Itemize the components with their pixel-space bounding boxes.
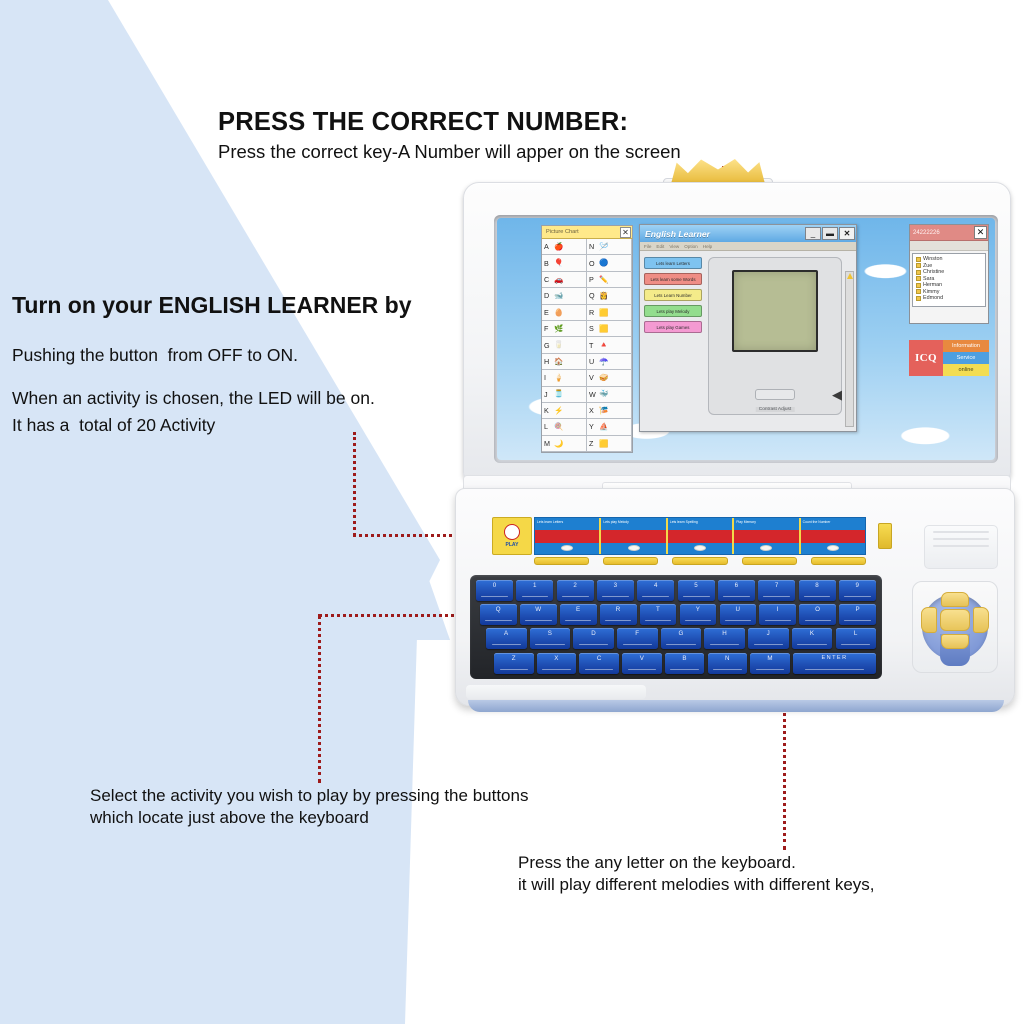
flower-icon: 🌿	[554, 325, 563, 333]
activity-selector-strip: PLAY Lets learn Letters Lets play Melody	[492, 517, 892, 555]
key-label: R	[616, 606, 621, 613]
jar-icon: 🫙	[554, 390, 563, 398]
triangle-icon: 🔺	[599, 341, 608, 349]
key-4[interactable]: 4	[637, 580, 674, 601]
chart-letter: T	[589, 341, 598, 350]
activity-led	[694, 545, 706, 551]
key-label: 1	[533, 582, 537, 589]
key-c[interactable]: C	[579, 653, 619, 674]
contact-name: Kimmy	[923, 289, 939, 295]
key-label: 8	[815, 582, 819, 589]
key-label: B	[682, 655, 686, 662]
chart-letter: C	[544, 275, 553, 284]
activity-top-label: Lets learn Letters	[537, 520, 597, 524]
key-label: Q	[496, 606, 501, 613]
key-label: 0	[493, 582, 497, 589]
kite-icon: ⚡	[554, 407, 563, 415]
chart-row: F🌿	[542, 321, 587, 337]
chart-letter: L	[544, 422, 553, 431]
key-label: F	[635, 630, 639, 637]
maximize-icon[interactable]: ▬	[822, 227, 838, 240]
key-7[interactable]: 7	[758, 580, 795, 601]
activity-band	[668, 530, 732, 543]
close-icon[interactable]: ✕	[839, 227, 855, 240]
palm-rest	[466, 685, 646, 699]
activity-button-list: Lets learn Letters Lets learn some Words…	[644, 257, 702, 337]
needle-icon: 🪡	[599, 243, 608, 251]
activity-top-label: Count the Number	[803, 520, 863, 524]
button-learn-letters[interactable]: Lets learn Letters	[644, 257, 702, 269]
key-label: I	[777, 606, 779, 613]
key-u[interactable]: U	[720, 604, 757, 625]
key-label: Z	[512, 655, 516, 662]
contact-name: Christine	[923, 269, 944, 275]
key-0[interactable]: 0	[476, 580, 513, 601]
screen-bezel: Picture Chart ✕ A🍎 B🎈 C🚗 D🐋 E🥚 F🌿	[494, 215, 998, 463]
list-item[interactable]: Edmond	[916, 295, 982, 301]
button-learn-words[interactable]: Lets learn some Words	[644, 273, 702, 285]
icq-button-column: Information Service online	[943, 340, 989, 376]
chart-letter: K	[544, 406, 553, 415]
key-f[interactable]: F	[617, 628, 658, 649]
menu-item-file[interactable]: File	[644, 244, 651, 249]
key-label: Y	[696, 606, 700, 613]
key-label: 5	[694, 582, 698, 589]
contacts-titlebar: 24222226 ✕	[910, 225, 988, 241]
key-label: A	[504, 630, 508, 637]
leader-turn-on-vertical	[353, 432, 356, 536]
turn-on-line-3: It has a total of 20 Activity	[12, 414, 215, 436]
key-h[interactable]: H	[704, 628, 745, 649]
chart-letter: H	[544, 357, 553, 366]
key-label: U	[736, 606, 741, 613]
key-a[interactable]: A	[486, 628, 527, 649]
key-i[interactable]: I	[759, 604, 796, 625]
keyboard-row-asdf: A S D F G H J K L	[476, 628, 876, 649]
key-label: K	[810, 630, 814, 637]
mouse-cursor-icon: ◀	[832, 388, 842, 401]
vent-slot	[933, 538, 989, 540]
house-icon: 🏠	[554, 358, 563, 366]
chart-letter: X	[589, 406, 598, 415]
activity-top-label: Lets play Melody	[603, 520, 663, 524]
balloon-icon: 🎈	[554, 259, 563, 267]
activity-led	[827, 545, 839, 551]
activity-button[interactable]	[603, 557, 658, 565]
contact-icon	[916, 276, 921, 281]
contact-icon	[916, 296, 921, 301]
chart-row: K⚡	[542, 403, 587, 419]
xylophone-icon: 🎏	[599, 407, 608, 415]
infographic-canvas: PRESS THE CORRECT NUMBER: Press the corr…	[0, 0, 1024, 1024]
activity-band	[801, 530, 865, 543]
list-item[interactable]: Winston	[916, 256, 982, 262]
chart-letter: F	[544, 324, 553, 333]
english-learner-body: Lets learn Letters Lets learn some Words…	[640, 251, 856, 431]
chart-row: W🐳	[587, 387, 632, 403]
key-label: P	[855, 606, 859, 613]
chart-row: U☂️	[587, 354, 632, 370]
key-8[interactable]: 8	[799, 580, 836, 601]
key-5[interactable]: 5	[678, 580, 715, 601]
chart-row: O🔵	[587, 255, 632, 271]
press-letter-text: Press the any letter on the keyboard. it…	[518, 852, 875, 896]
activity-button[interactable]	[811, 557, 866, 565]
laptop-base: PLAY Lets learn Letters Lets play Melody	[455, 488, 1015, 706]
chart-row: R🟨	[587, 305, 632, 321]
minimize-icon[interactable]: _	[805, 227, 821, 240]
key-label: O	[815, 606, 820, 613]
keyboard-row-qwerty: Q W E R T Y U I O P	[476, 604, 876, 625]
key-label: T	[656, 606, 660, 613]
key-g[interactable]: G	[661, 628, 702, 649]
contacts-toolbar	[910, 241, 988, 251]
activity-band	[734, 530, 798, 543]
contact-icon	[916, 257, 921, 262]
english-learner-window[interactable]: English Learner _ ▬ ✕ File Edit View Opt…	[639, 224, 857, 432]
activity-band	[535, 530, 599, 543]
yacht-icon: ⛵	[599, 423, 608, 431]
lollipop-icon: 🍭	[554, 423, 563, 431]
base-front-edge	[468, 700, 1004, 712]
whale-icon: 🐳	[599, 390, 608, 398]
contacts-user-id: 24222226	[913, 230, 974, 236]
key-label: J	[767, 630, 770, 637]
list-item[interactable]: Kimmy	[916, 289, 982, 295]
activity-led	[561, 545, 573, 551]
chart-row: H🏠	[542, 354, 587, 370]
queen-icon: 👸	[599, 292, 608, 300]
dpad-left-button[interactable]	[921, 607, 937, 633]
key-w[interactable]: W	[520, 604, 557, 625]
zipper-icon: 🟨	[599, 440, 608, 448]
icq-information-button[interactable]: Information	[943, 340, 989, 352]
activity-led	[760, 545, 772, 551]
activity-button[interactable]	[672, 557, 727, 565]
press-letter-line-2: it will play different melodies with dif…	[518, 875, 875, 894]
key-v[interactable]: V	[622, 653, 662, 674]
dolphin-icon: 🐋	[554, 292, 563, 300]
chart-letter: B	[544, 259, 553, 268]
key-9[interactable]: 9	[839, 580, 876, 601]
activity-button[interactable]	[742, 557, 797, 565]
picture-chart-right-column: N🪡 O🔵 P✏️ Q👸 R🟨 S🟨 T🔺 U☂️ V🥪 W🐳	[587, 239, 632, 452]
keyboard-row-numbers: 0 1 2 3 4 5 6 7 8 9	[476, 580, 876, 601]
english-learner-title: English Learner	[645, 229, 804, 239]
violin-icon: 🥪	[599, 374, 608, 382]
picture-chart-title: Picture Chart	[546, 229, 579, 235]
power-switch[interactable]: PLAY	[492, 517, 532, 555]
dpad-down-button[interactable]	[941, 634, 969, 649]
activity-top-label: Lets learn Spelling	[670, 520, 730, 524]
dpad-center-button[interactable]	[940, 609, 970, 631]
volume-knob[interactable]	[878, 523, 892, 549]
power-switch-indicator	[504, 524, 520, 540]
icq-widget[interactable]: ICQ Information Service online	[909, 340, 989, 376]
key-label: L	[854, 630, 858, 637]
list-item[interactable]: Christine	[916, 269, 982, 275]
key-t[interactable]: T	[640, 604, 677, 625]
chart-row: Y⛵	[587, 419, 632, 435]
chart-letter: D	[544, 291, 553, 300]
key-label: 7	[775, 582, 779, 589]
select-activity-line-2: which locate just above the keyboard	[90, 808, 369, 827]
chart-row: T🔺	[587, 337, 632, 353]
turn-on-line-1: Pushing the button from OFF to ON.	[12, 344, 298, 366]
contact-icon	[916, 263, 921, 268]
picture-chart-left-column: A🍎 B🎈 C🚗 D🐋 E🥚 F🌿 G🥛 H🏠 I🍦 J🫙	[542, 239, 587, 452]
icq-online-button[interactable]: online	[943, 364, 989, 376]
picture-chart-grid: A🍎 B🎈 C🚗 D🐋 E🥚 F🌿 G🥛 H🏠 I🍦 J🫙	[542, 239, 632, 452]
square-icon: 🟨	[599, 325, 608, 333]
chart-letter: Q	[589, 291, 598, 300]
chart-row: Z🟨	[587, 436, 632, 452]
icecream-icon: 🍦	[554, 374, 563, 382]
press-letter-line-1: Press the any letter on the keyboard.	[518, 853, 796, 872]
chart-letter: U	[589, 357, 598, 366]
chevron-up-icon[interactable]	[847, 273, 853, 279]
activity-button[interactable]	[534, 557, 589, 565]
key-label: 2	[573, 582, 577, 589]
close-icon[interactable]: ✕	[620, 227, 631, 238]
button-play-games[interactable]: Lets play Games	[644, 321, 702, 333]
chart-letter: G	[544, 341, 553, 350]
contact-icon	[916, 289, 921, 294]
vent-slot	[933, 545, 989, 547]
activity-panel-row: Lets learn Letters Lets play Melody Lets…	[534, 517, 866, 555]
key-label: H	[722, 630, 727, 637]
key-s[interactable]: S	[530, 628, 571, 649]
list-item[interactable]: Sara	[916, 276, 982, 282]
key-label: 3	[614, 582, 618, 589]
glove-icon: 🥛	[554, 341, 563, 349]
key-6[interactable]: 6	[718, 580, 755, 601]
desktop-wallpaper: Picture Chart ✕ A🍎 B🎈 C🚗 D🐋 E🥚 F🌿	[497, 218, 995, 460]
chart-row: P✏️	[587, 272, 632, 288]
key-n[interactable]: N	[708, 653, 748, 674]
list-item[interactable]: Herman	[916, 282, 982, 288]
key-label: C	[597, 655, 602, 662]
key-b[interactable]: B	[665, 653, 705, 674]
activity-button-row	[534, 557, 866, 565]
dpad-housing	[912, 581, 998, 673]
orange-icon: 🔵	[599, 259, 608, 267]
contact-name: Edmond	[923, 295, 943, 301]
key-d[interactable]: D	[573, 628, 614, 649]
contact-name: Sara	[923, 276, 934, 282]
key-label: X	[554, 655, 558, 662]
chart-row: J🫙	[542, 387, 587, 403]
key-q[interactable]: Q	[480, 604, 517, 625]
contacts-list: Winston Zue Christine Sara Herman Kimmy …	[912, 253, 986, 307]
contact-icon	[916, 270, 921, 275]
menu-item-edit[interactable]: Edit	[656, 244, 664, 249]
power-label: PLAY	[506, 542, 519, 548]
key-o[interactable]: O	[799, 604, 836, 625]
icq-service-button[interactable]: Service	[943, 352, 989, 364]
chart-row: V🥪	[587, 370, 632, 386]
select-activity-line-1: Select the activity you wish to play by …	[90, 786, 528, 805]
key-label: ENTER	[822, 655, 848, 661]
chart-row: C🚗	[542, 272, 587, 288]
contacts-footer	[910, 309, 988, 323]
moon-icon: 🌙	[554, 440, 563, 448]
key-label: 9	[856, 582, 860, 589]
menu-item-option[interactable]: Option	[684, 244, 698, 249]
contrast-adjust-label: Contrast Adjust	[756, 407, 795, 412]
eggplant-icon: 🥚	[554, 309, 563, 317]
chart-letter: P	[589, 275, 598, 284]
ruler-icon: 🟨	[599, 309, 608, 317]
chart-letter: J	[544, 390, 553, 399]
apple-icon: 🍎	[554, 243, 563, 251]
button-play-melody[interactable]: Lets play Melody	[644, 305, 702, 317]
chart-letter: N	[589, 242, 598, 251]
key-2[interactable]: 2	[557, 580, 594, 601]
chart-letter: O	[589, 259, 598, 268]
turn-on-heading: Turn on your ENGLISH LEARNER by	[12, 291, 412, 320]
key-p[interactable]: P	[839, 604, 876, 625]
chart-row: E🥚	[542, 305, 587, 321]
key-r[interactable]: R	[600, 604, 637, 625]
menu-item-help[interactable]: Help	[703, 244, 712, 249]
chart-letter: A	[544, 242, 553, 251]
chart-row: X🎏	[587, 403, 632, 419]
dpad-right-button[interactable]	[973, 607, 989, 633]
activity-cell[interactable]: Play Memory	[734, 518, 800, 554]
activity-band	[601, 530, 665, 543]
speaker-vent	[924, 525, 998, 569]
key-label: V	[640, 655, 644, 662]
key-y[interactable]: Y	[680, 604, 717, 625]
chart-letter: Y	[589, 422, 598, 431]
key-e[interactable]: E	[560, 604, 597, 625]
pencil-icon: ✏️	[599, 276, 608, 284]
chart-row: N🪡	[587, 239, 632, 255]
key-k[interactable]: K	[792, 628, 833, 649]
key-m[interactable]: M	[750, 653, 790, 674]
english-learner-menubar: File Edit View Option Help	[640, 242, 856, 251]
activity-top-label: Play Memory	[736, 520, 796, 524]
chart-letter: W	[589, 390, 598, 399]
scrollbar[interactable]	[845, 271, 854, 427]
key-label: W	[535, 606, 541, 613]
keyboard: 0 1 2 3 4 5 6 7 8 9 Q W E R T Y	[470, 575, 882, 679]
chart-letter: Z	[589, 439, 598, 448]
contact-name: Winston	[923, 256, 942, 262]
icq-logo: ICQ	[909, 340, 943, 376]
chart-row: Q👸	[587, 288, 632, 304]
lcd-display	[732, 270, 818, 352]
chart-row: S🟨	[587, 321, 632, 337]
contact-name: Zue	[923, 263, 932, 269]
chart-letter: M	[544, 439, 553, 448]
list-item[interactable]: Zue	[916, 263, 982, 269]
vent-slot	[933, 531, 989, 533]
button-learn-number[interactable]: Lets Learn Number	[644, 289, 702, 301]
key-label: G	[678, 630, 683, 637]
english-learner-titlebar[interactable]: English Learner _ ▬ ✕	[640, 225, 856, 242]
key-label: D	[591, 630, 596, 637]
key-z[interactable]: Z	[494, 653, 534, 674]
key-label: M	[767, 655, 772, 662]
activity-cell[interactable]: Lets play Melody	[601, 518, 667, 554]
select-activity-text: Select the activity you wish to play by …	[90, 785, 528, 829]
chart-letter: R	[589, 308, 598, 317]
picture-chart-titlebar: Picture Chart ✕	[542, 226, 632, 239]
english-learner-laptop: Picture Chart ✕ A🍎 B🎈 C🚗 D🐋 E🥚 F🌿	[455, 170, 1015, 715]
contrast-knob[interactable]	[755, 389, 795, 400]
contacts-window[interactable]: 24222226 ✕ Winston Zue Christine Sara He…	[909, 224, 989, 324]
key-1[interactable]: 1	[516, 580, 553, 601]
activity-cell[interactable]: Lets learn Letters	[535, 518, 601, 554]
leader-select-activity-vertical	[318, 615, 321, 783]
keyboard-row-zxcv: Z X C V B N M ENTER	[476, 653, 876, 674]
laptop-lid: Picture Chart ✕ A🍎 B🎈 C🚗 D🐋 E🥚 F🌿	[463, 182, 1011, 482]
key-label: S	[548, 630, 552, 637]
dpad-up-button[interactable]	[941, 592, 969, 607]
chart-row: M🌙	[542, 436, 587, 452]
background-wedge-top	[0, 0, 440, 560]
key-label: N	[725, 655, 730, 662]
lcd-panel: Contrast Adjust	[708, 257, 842, 415]
key-label: 4	[654, 582, 658, 589]
chart-row: D🐋	[542, 288, 587, 304]
contact-icon	[916, 283, 921, 288]
activity-led	[628, 545, 640, 551]
picture-chart-window[interactable]: Picture Chart ✕ A🍎 B🎈 C🚗 D🐋 E🥚 F🌿	[541, 225, 633, 453]
chart-letter: V	[589, 373, 598, 382]
activity-cell[interactable]: Lets learn Spelling	[668, 518, 734, 554]
menu-item-view[interactable]: View	[669, 244, 679, 249]
chart-row: G🥛	[542, 337, 587, 353]
key-label: 6	[735, 582, 739, 589]
key-enter[interactable]: ENTER	[793, 653, 876, 674]
chart-letter: I	[544, 373, 553, 382]
key-j[interactable]: J	[748, 628, 789, 649]
chart-row: I🍦	[542, 370, 587, 386]
press-number-heading: PRESS THE CORRECT NUMBER:	[218, 106, 628, 139]
chart-row: L🍭	[542, 419, 587, 435]
chart-letter: E	[544, 308, 553, 317]
car-icon: 🚗	[554, 276, 563, 284]
close-icon[interactable]: ✕	[974, 226, 987, 239]
key-l[interactable]: L	[836, 628, 877, 649]
activity-cell[interactable]: Count the Number	[801, 518, 865, 554]
umbrella-icon: ☂️	[599, 358, 608, 366]
chart-row: A🍎	[542, 239, 587, 255]
chart-row: B🎈	[542, 255, 587, 271]
key-label: E	[576, 606, 580, 613]
chart-letter: S	[589, 324, 598, 333]
contact-name: Herman	[923, 282, 942, 288]
key-x[interactable]: X	[537, 653, 577, 674]
key-3[interactable]: 3	[597, 580, 634, 601]
press-number-subtext: Press the correct key-A Number will appe…	[218, 140, 681, 164]
turn-on-line-2: When an activity is chosen, the LED will…	[12, 387, 375, 409]
